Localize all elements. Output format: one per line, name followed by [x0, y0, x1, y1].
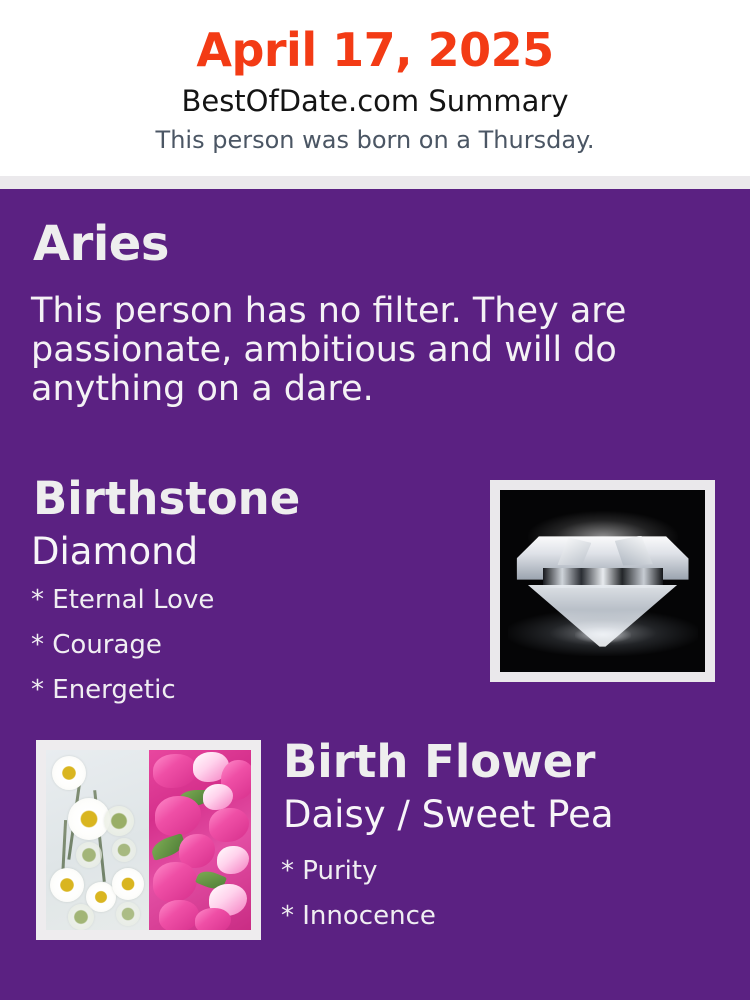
page-title-date: April 17, 2025: [0, 26, 750, 74]
birth-flower-heading: Birth Flower: [283, 739, 596, 784]
birthstone-name: Diamond: [31, 533, 198, 570]
flower-photo: [46, 750, 251, 930]
born-weekday-text: This person was born on a Thursday.: [0, 127, 750, 153]
zodiac-sign-title: Aries: [33, 220, 169, 268]
daisy-photo-half: [46, 750, 149, 930]
birth-flower-name: Daisy / Sweet Pea: [283, 796, 614, 833]
birthstone-trait-list: * Eternal Love * Courage * Energetic: [31, 587, 451, 722]
birthstone-heading: Birthstone: [33, 476, 300, 521]
header-divider: [0, 176, 750, 189]
birth-flower-trait-list: * Purity * Innocence: [281, 858, 681, 948]
birth-flower-image-frame: [36, 740, 261, 940]
birthstone-image-frame: [490, 480, 715, 682]
summary-page: April 17, 2025 BestOfDate.com Summary Th…: [0, 0, 750, 1000]
list-item: * Eternal Love: [31, 587, 451, 613]
details-panel: Aries This person has no filter. They ar…: [0, 189, 750, 1000]
list-item: * Innocence: [281, 903, 681, 929]
sweet-pea-photo-half: [149, 750, 252, 930]
zodiac-description: This person has no filter. They are pass…: [31, 292, 651, 410]
list-item: * Courage: [31, 632, 451, 658]
list-item: * Energetic: [31, 677, 451, 703]
list-item: * Purity: [281, 858, 681, 884]
site-summary-label: BestOfDate.com Summary: [0, 86, 750, 118]
diamond-photo: [500, 490, 705, 672]
page-header: April 17, 2025 BestOfDate.com Summary Th…: [0, 0, 750, 176]
diamond-reflection: [508, 610, 698, 656]
